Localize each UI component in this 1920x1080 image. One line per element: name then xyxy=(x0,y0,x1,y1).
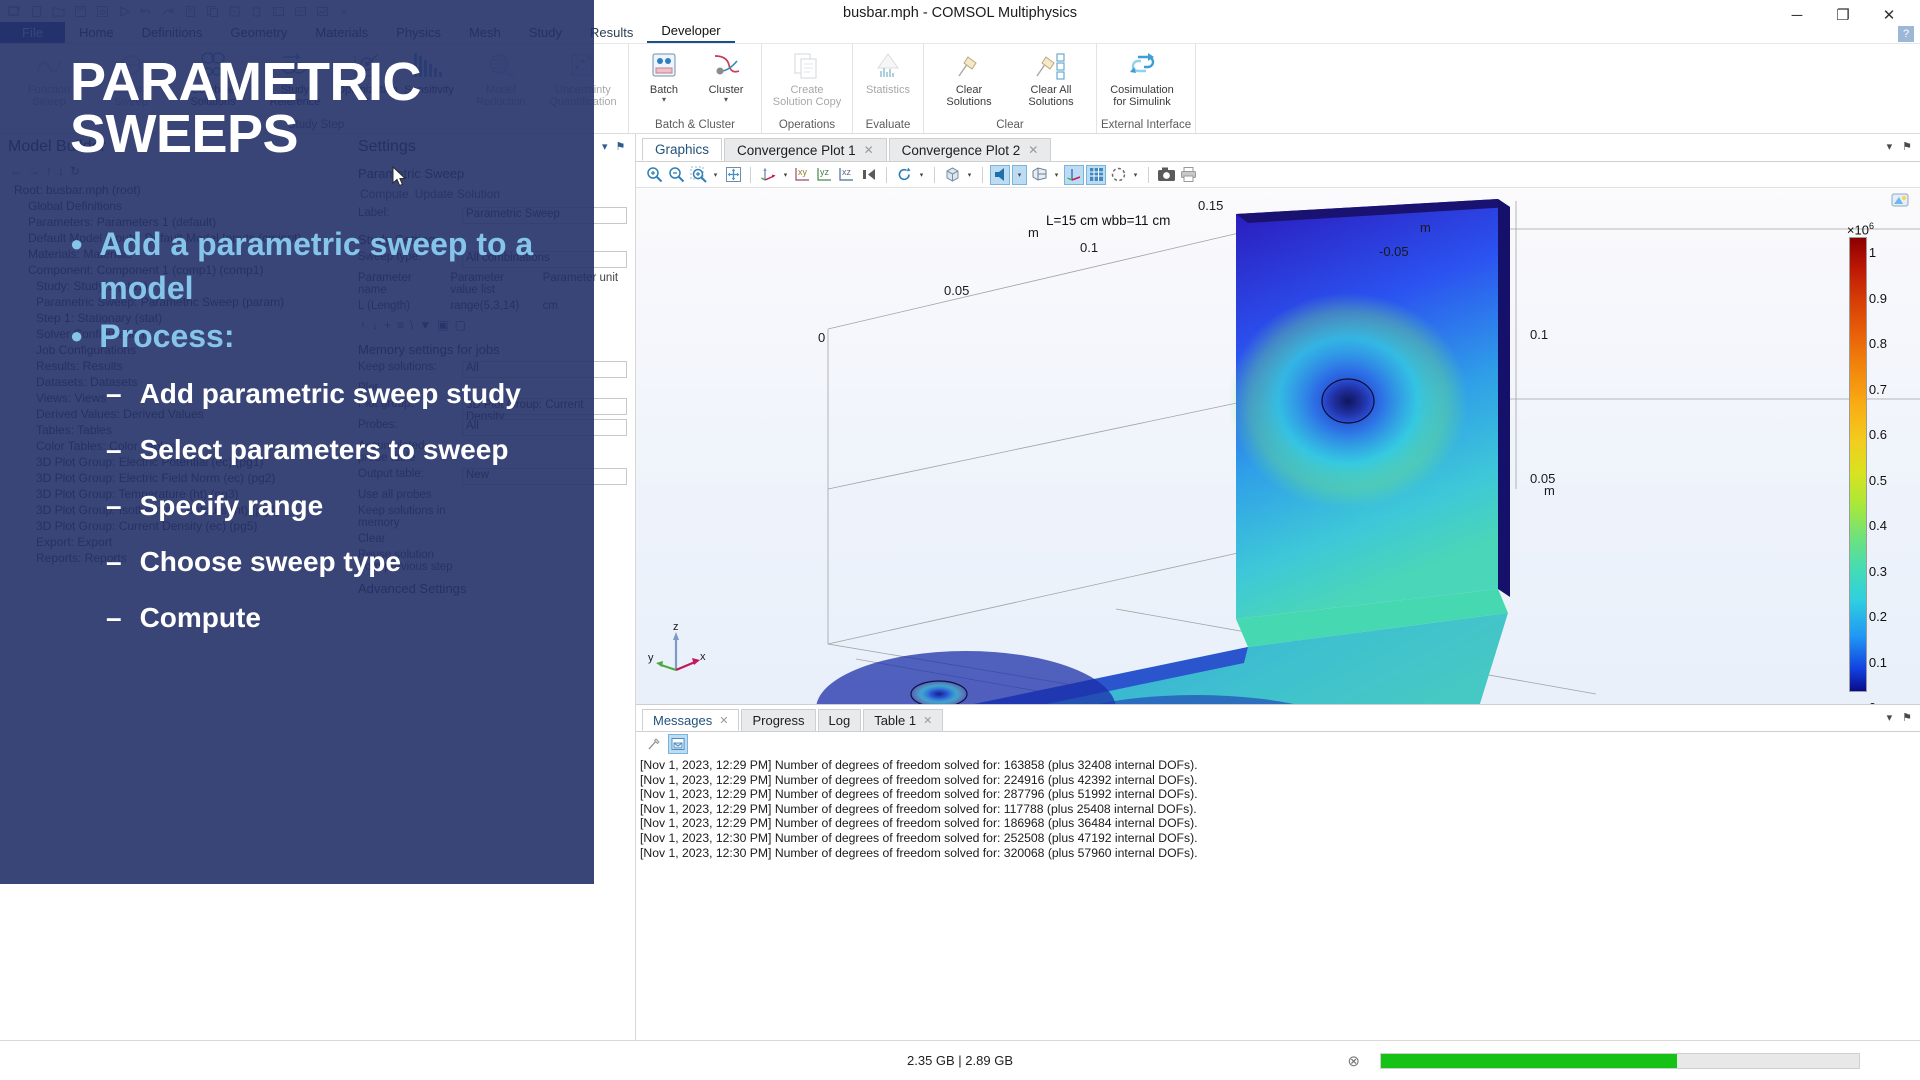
x-tick-3: 0.15 xyxy=(1198,198,1223,213)
messages-tab-label: Progress xyxy=(752,713,804,728)
messages-dock-pin-icon[interactable]: ⚑ xyxy=(1902,711,1912,724)
graphics-tab-menu-icon[interactable]: ▾ xyxy=(602,140,608,153)
bullet-text: Add parametric sweep study xyxy=(140,374,521,414)
legend-tick: 0.6 xyxy=(1869,427,1887,442)
graphics-dock-caret-icon[interactable]: ▾ xyxy=(1887,140,1893,153)
ribbon-group-items: CreateSolution Copy xyxy=(766,44,848,114)
ribbon-group-external-interface: Cosimulationfor SimulinkExternal Interfa… xyxy=(1097,44,1196,133)
ribbon-button-label: ClearSolutions xyxy=(946,84,991,108)
message-line: [Nov 1, 2023, 12:29 PM] Number of degree… xyxy=(640,773,1920,788)
ribbon-group-items: Batch▾Cluster▾ xyxy=(633,44,757,114)
batch-icon xyxy=(649,47,679,81)
svg-text:z: z xyxy=(673,624,679,633)
cluster-icon xyxy=(711,47,741,81)
ribbon-group-label: External Interface xyxy=(1101,119,1191,133)
help-button[interactable]: ? xyxy=(1898,26,1914,42)
bullet-text: Compute xyxy=(140,598,261,638)
ribbon-group-batch-cluster: Batch▾Cluster▾Batch & Cluster xyxy=(629,44,762,133)
bullet-text: Process: xyxy=(99,314,234,358)
messages-tab-log[interactable]: Log xyxy=(818,709,862,731)
ribbon-button-label: CreateSolution Copy xyxy=(773,84,842,108)
slide-bullet-level2: –Add parametric sweep study xyxy=(106,374,560,414)
slide-title: PARAMETRIC SWEEPS xyxy=(70,56,560,160)
message-window-icon[interactable] xyxy=(668,734,688,754)
legend-tick: 0.8 xyxy=(1869,336,1887,351)
bullet-marker: ● xyxy=(70,222,83,310)
go-to-view-icon[interactable] xyxy=(758,165,778,185)
graphics-tab-graphics[interactable]: Graphics xyxy=(642,138,722,161)
graphics-dock-controls[interactable]: ▾ ⚑ xyxy=(1887,140,1912,153)
bullet-marker: ● xyxy=(70,314,83,358)
legend-tick: 1 xyxy=(1869,245,1876,260)
graphics-window: ▾ ⚑ GraphicsConvergence Plot 1✕Convergen… xyxy=(636,134,1920,704)
slide-title-line2: SWEEPS xyxy=(70,108,560,160)
messages-tab-progress[interactable]: Progress xyxy=(741,709,815,731)
z-tick-0p1: 0.1 xyxy=(1530,327,1548,342)
ribbon-group-evaluate: StatisticsEvaluate xyxy=(853,44,924,133)
legend-exponent: ×106 xyxy=(1847,221,1874,237)
plot-title: L=15 cm wbb=11 cm xyxy=(1046,213,1170,228)
status-bar: 2.35 GB | 2.89 GB ⊗ xyxy=(0,1040,1920,1080)
print-icon[interactable] xyxy=(1178,165,1198,185)
graphics-tab-bar[interactable]: ▾ ⚑ GraphicsConvergence Plot 1✕Convergen… xyxy=(636,134,1920,162)
ribbon-button-label: Clear AllSolutions xyxy=(1028,84,1073,108)
slide-bullet-level1: ●Process: xyxy=(70,314,560,358)
legend-exponent-base: ×10 xyxy=(1847,222,1869,237)
slide-title-line1: PARAMETRIC xyxy=(70,56,560,108)
svg-text:y: y xyxy=(648,652,654,664)
ribbon-group-items: Cosimulationfor Simulink xyxy=(1101,44,1191,114)
slide-bullet-level2: –Select parameters to sweep xyxy=(106,430,560,470)
slide-bullet-list: ●Add a parametric sweep to a model●Proce… xyxy=(70,222,560,638)
select-caret-icon[interactable]: ▾ xyxy=(1130,171,1141,179)
legend-tick: 0.5 xyxy=(1869,473,1887,488)
message-line: [Nov 1, 2023, 12:29 PM] Number of degree… xyxy=(640,787,1920,802)
ribbon-button-batch[interactable]: Batch▾ xyxy=(633,44,695,104)
clear-messages-icon[interactable] xyxy=(644,734,664,754)
ribbon-group-label: Evaluate xyxy=(857,119,919,133)
axis-unit-top: m xyxy=(1028,225,1039,240)
svg-text:xy: xy xyxy=(798,167,808,177)
ribbon-button-clear-solutions[interactable]: ClearSolutions xyxy=(928,44,1010,108)
show-hide-icon[interactable] xyxy=(1029,165,1049,185)
y-tick-neg: -0.05 xyxy=(1379,244,1409,259)
legend-tick: 0.2 xyxy=(1869,609,1887,624)
graphics-tab-label: Graphics xyxy=(655,142,709,157)
ribbon-group-label: Clear xyxy=(928,119,1092,133)
scene-light-icon[interactable] xyxy=(990,165,1010,185)
color-legend: ×106 10.90.80.70.60.50.40.30.20.10 xyxy=(1835,221,1874,692)
legend-tick: 0.3 xyxy=(1869,564,1887,579)
close-icon[interactable]: ✕ xyxy=(923,714,932,727)
messages-toolbar[interactable] xyxy=(636,732,1920,756)
close-icon[interactable]: ✕ xyxy=(864,143,874,157)
ribbon-group-items: Statistics xyxy=(857,44,919,114)
bullet-marker: – xyxy=(106,598,122,638)
x-tick-1: 0.05 xyxy=(944,283,969,298)
message-line: [Nov 1, 2023, 12:29 PM] Number of degree… xyxy=(640,816,1920,831)
ribbon-button-label: Statistics xyxy=(866,84,910,96)
clear-all-solutions-icon xyxy=(1034,47,1068,81)
bullet-text: Choose sweep type xyxy=(140,542,401,582)
ribbon-button-cosimulation-for-simulink[interactable]: Cosimulationfor Simulink xyxy=(1101,44,1183,108)
messages-tab-label: Table 1 xyxy=(874,713,916,728)
slide-bullet-level2: –Compute xyxy=(106,598,560,638)
ribbon-button-label: Cosimulationfor Simulink xyxy=(1110,84,1174,108)
reset-rotation-caret-icon[interactable]: ▾ xyxy=(916,171,927,179)
toolbar-separator xyxy=(934,167,935,183)
view-xz-icon[interactable]: xz xyxy=(837,165,857,185)
graphics-tab-controls[interactable]: ▾ ⚑ xyxy=(602,140,625,153)
svg-text:xz: xz xyxy=(842,167,852,177)
cancel-progress-icon[interactable]: ⊗ xyxy=(1347,1052,1360,1070)
messages-dock-controls[interactable]: ▾ ⚑ xyxy=(1887,711,1912,724)
slide-overlay: PARAMETRIC SWEEPS ●Add a parametric swee… xyxy=(0,0,594,884)
messages-tab-bar[interactable]: ▾ ⚑ Messages✕ProgressLogTable 1✕ xyxy=(636,705,1920,732)
message-line: [Nov 1, 2023, 12:29 PM] Number of degree… xyxy=(640,758,1920,773)
zoom-extents-icon[interactable] xyxy=(723,165,743,185)
ribbon-group-label: Batch & Cluster xyxy=(633,119,757,133)
legend-tick-labels: 10.90.80.70.60.50.40.30.20.10 xyxy=(1869,253,1909,704)
legend-tick: 0.4 xyxy=(1869,518,1887,533)
graphics-canvas[interactable]: L=15 cm wbb=11 cm m m 0 0.05 0.1 0.15 -0… xyxy=(636,189,1920,704)
grid-icon[interactable] xyxy=(1086,165,1106,185)
svg-text:x: x xyxy=(700,651,706,663)
messages-dock-caret-icon[interactable]: ▾ xyxy=(1887,711,1893,724)
bullet-marker: – xyxy=(106,486,122,526)
progress-bar xyxy=(1380,1053,1860,1069)
toolbar-separator xyxy=(982,167,983,183)
graphics-tab-label: Convergence Plot 1 xyxy=(737,143,856,158)
x-tick-0: 0 xyxy=(818,330,825,345)
messages-panel: ▾ ⚑ Messages✕ProgressLogTable 1✕ [Nov 1,… xyxy=(636,704,1920,1040)
legend-exponent-power: 6 xyxy=(1869,221,1874,231)
bullet-text: Add a parametric sweep to a model xyxy=(99,222,560,310)
go-to-view-caret-icon[interactable]: ▾ xyxy=(780,171,791,179)
bullet-marker: – xyxy=(106,374,122,414)
x-tick-2: 0.1 xyxy=(1080,240,1098,255)
axis-unit-right: m xyxy=(1420,220,1431,235)
slide-bullet-level1: ●Add a parametric sweep to a model xyxy=(70,222,560,310)
ribbon-tab-developer[interactable]: Developer xyxy=(647,21,734,43)
messages-tab-label: Log xyxy=(829,713,851,728)
select-icon[interactable] xyxy=(1108,165,1128,185)
zoom-box-caret-icon[interactable]: ▾ xyxy=(710,171,721,179)
close-icon[interactable]: ✕ xyxy=(719,714,728,727)
messages-tab-label: Messages xyxy=(653,713,712,728)
graphics-toolbar[interactable]: ▾▾xyyzxz▾▾▾▾▾ xyxy=(636,162,1920,188)
axis-orientation-icon[interactable] xyxy=(1064,165,1084,185)
svg-text:yz: yz xyxy=(820,167,830,177)
graphics-tab-convergence-plot-1[interactable]: Convergence Plot 1✕ xyxy=(724,138,887,161)
bullet-marker: – xyxy=(106,542,122,582)
zoom-in-icon[interactable] xyxy=(644,165,664,185)
graphics-tab-convergence-plot-2[interactable]: Convergence Plot 2✕ xyxy=(889,138,1052,161)
message-line: [Nov 1, 2023, 12:29 PM] Number of degree… xyxy=(640,802,1920,817)
graphics-tab-label: Convergence Plot 2 xyxy=(902,143,1021,158)
message-line: [Nov 1, 2023, 12:30 PM] Number of degree… xyxy=(640,831,1920,846)
graphics-dock-pin-icon[interactable]: ⚑ xyxy=(1902,140,1912,153)
statistics-icon xyxy=(873,47,903,81)
progress-bar-fill xyxy=(1381,1054,1677,1068)
reset-rotation-icon[interactable] xyxy=(894,165,914,185)
legend-unit-m: m xyxy=(1544,483,1555,498)
messages-tab-table-1[interactable]: Table 1✕ xyxy=(863,709,943,731)
bullet-marker: – xyxy=(106,430,122,470)
zoom-out-icon[interactable] xyxy=(666,165,686,185)
ribbon-group-items: ClearSolutionsClear AllSolutions xyxy=(928,44,1092,114)
mouse-cursor-icon xyxy=(392,166,408,193)
legend-tick: 0.9 xyxy=(1869,291,1887,306)
busbar-3d-plot[interactable] xyxy=(636,189,1920,704)
bullet-text: Specify range xyxy=(140,486,324,526)
messages-tab-messages[interactable]: Messages✕ xyxy=(642,709,739,731)
snapshot-icon[interactable] xyxy=(1156,165,1176,185)
ribbon-group-clear: ClearSolutionsClear AllSolutionsClear xyxy=(924,44,1097,133)
ribbon-button-create-solution-copy[interactable]: CreateSolution Copy xyxy=(766,44,848,108)
ribbon-button-statistics[interactable]: Statistics xyxy=(857,44,919,96)
view-yz-icon[interactable]: yz xyxy=(815,165,835,185)
transparency-icon[interactable] xyxy=(942,165,962,185)
graphics-pin-icon[interactable]: ⚑ xyxy=(616,140,626,153)
legend-color-bar xyxy=(1849,237,1867,692)
memory-status: 2.35 GB | 2.89 GB xyxy=(907,1053,1013,1068)
ribbon-button-cluster[interactable]: Cluster▾ xyxy=(695,44,757,104)
bullet-text: Select parameters to sweep xyxy=(140,430,509,470)
clear-solutions-icon xyxy=(954,47,984,81)
legend-tick: 0.1 xyxy=(1869,655,1887,670)
show-hide-caret-icon[interactable]: ▾ xyxy=(1051,171,1062,179)
chevron-down-icon[interactable]: ▾ xyxy=(662,96,666,104)
view-xy-icon[interactable]: xy xyxy=(793,165,813,185)
zoom-box-icon[interactable] xyxy=(688,165,708,185)
slide-bullet-level2: –Specify range xyxy=(106,486,560,526)
ribbon-group-label: Operations xyxy=(766,119,848,133)
slide-bullet-level2: –Choose sweep type xyxy=(106,542,560,582)
close-icon[interactable]: ✕ xyxy=(1028,143,1038,157)
camera-view-icon[interactable] xyxy=(859,165,879,185)
scene-thumbnail-icon[interactable] xyxy=(1890,191,1910,214)
transparency-caret-icon[interactable]: ▾ xyxy=(964,171,975,179)
toolbar-separator xyxy=(750,167,751,183)
create-solution-copy-icon xyxy=(792,47,822,81)
ribbon-group-operations: CreateSolution CopyOperations xyxy=(762,44,853,133)
toolbar-separator xyxy=(1148,167,1149,183)
axis-orientation-triad: z x y xyxy=(648,624,708,676)
legend-tick: 0.7 xyxy=(1869,382,1887,397)
cosimulation-simulink-icon xyxy=(1126,47,1158,81)
chevron-down-icon[interactable]: ▾ xyxy=(724,96,728,104)
message-line: [Nov 1, 2023, 12:30 PM] Number of degree… xyxy=(640,846,1920,861)
scene-light-caret-icon[interactable]: ▾ xyxy=(1012,165,1027,185)
ribbon-button-clear-all-solutions[interactable]: Clear AllSolutions xyxy=(1010,44,1092,108)
messages-log-list[interactable]: [Nov 1, 2023, 12:29 PM] Number of degree… xyxy=(636,756,1920,860)
toolbar-separator xyxy=(886,167,887,183)
